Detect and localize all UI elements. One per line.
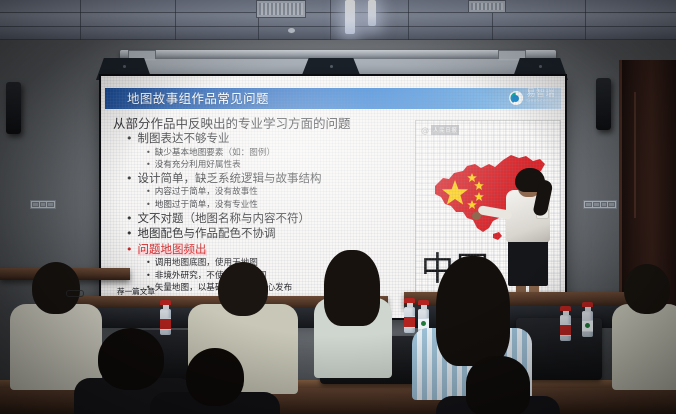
water-bottle-1[interactable] xyxy=(160,300,171,335)
water-bottle-2[interactable] xyxy=(404,298,415,333)
wall-outlet-left[interactable] xyxy=(30,200,56,209)
presenter-hand xyxy=(472,212,481,220)
bullet-l1: 制图表达不够专业 xyxy=(126,131,413,147)
presenter-skirt xyxy=(508,236,548,286)
wall-outlet-right[interactable] xyxy=(583,200,617,209)
door-frame-line xyxy=(634,92,636,218)
bullet-l2: 地图过于简单，没有专业性 xyxy=(146,199,413,211)
ceiling-vent xyxy=(256,0,306,18)
logo-mark-icon xyxy=(509,91,523,105)
audience-long-hair xyxy=(324,250,380,326)
bottle-body xyxy=(560,315,571,341)
bottle-body xyxy=(582,311,593,337)
at-symbol-icon: @ xyxy=(421,126,429,135)
smoke-detector-icon xyxy=(288,28,295,33)
audience-head xyxy=(98,328,164,390)
bullet-l1: 设计简单，缺乏系统逻辑与故事结构 xyxy=(126,171,413,187)
bullet-l2: 内容过于简单，没有故事性 xyxy=(146,186,413,198)
bottle-label xyxy=(560,324,571,336)
water-bottle-4[interactable] xyxy=(560,306,571,341)
logo-chinese: 易智瑞 xyxy=(526,90,555,99)
logo-text: 易智瑞 GeoScene xyxy=(526,90,555,105)
bullet-l1: 地图配色与作品配色不协调 xyxy=(126,226,413,242)
bullet-l2: 没有充分利用好属性表 xyxy=(146,159,413,171)
ceiling-light-2 xyxy=(368,0,376,26)
bottle-body xyxy=(404,307,415,333)
slide-title: 地图故事组作品常见问题 xyxy=(127,89,457,108)
map-watermark: @ 人民日报 xyxy=(421,125,459,135)
bullet-l2: 缺少基本地图要素（如：图例） xyxy=(146,147,413,159)
geoscene-logo: 易智瑞 GeoScene xyxy=(509,88,555,107)
bullet-l1: 文不对题（地图名称与内容不符） xyxy=(126,211,413,227)
bottle-label xyxy=(160,318,171,330)
ceiling-light xyxy=(345,0,355,34)
bullet-l1-highlight: 问题地图频出 xyxy=(126,242,413,258)
audience-head xyxy=(32,262,80,314)
bottle-label xyxy=(582,320,593,332)
audience-long-hair xyxy=(436,256,510,366)
classroom-photo: 地图故事组作品常见问题 易智瑞 GeoScene 从部分作品中反映出的专业学习方… xyxy=(0,0,676,414)
bottle-label xyxy=(404,316,415,328)
watermark-source: 人民日报 xyxy=(431,125,459,135)
screen-mount-rail xyxy=(120,50,556,59)
audience-head xyxy=(624,264,670,314)
audience-long-hair xyxy=(466,356,530,414)
logo-english: GeoScene xyxy=(526,100,555,105)
ceiling-tile-grid xyxy=(0,0,676,44)
slide-lead: 从部分作品中反映出的专业学习方面的问题 xyxy=(113,116,413,131)
ceiling-vent-right xyxy=(468,0,506,13)
wall-speaker-right xyxy=(596,78,611,130)
audience-torso xyxy=(612,304,676,390)
audience-head xyxy=(218,262,268,316)
bottle-body xyxy=(160,309,171,335)
wall-speaker-left xyxy=(6,82,21,134)
glasses-icon xyxy=(66,290,84,297)
audience-head xyxy=(186,348,244,406)
water-bottle-5[interactable] xyxy=(582,302,593,337)
